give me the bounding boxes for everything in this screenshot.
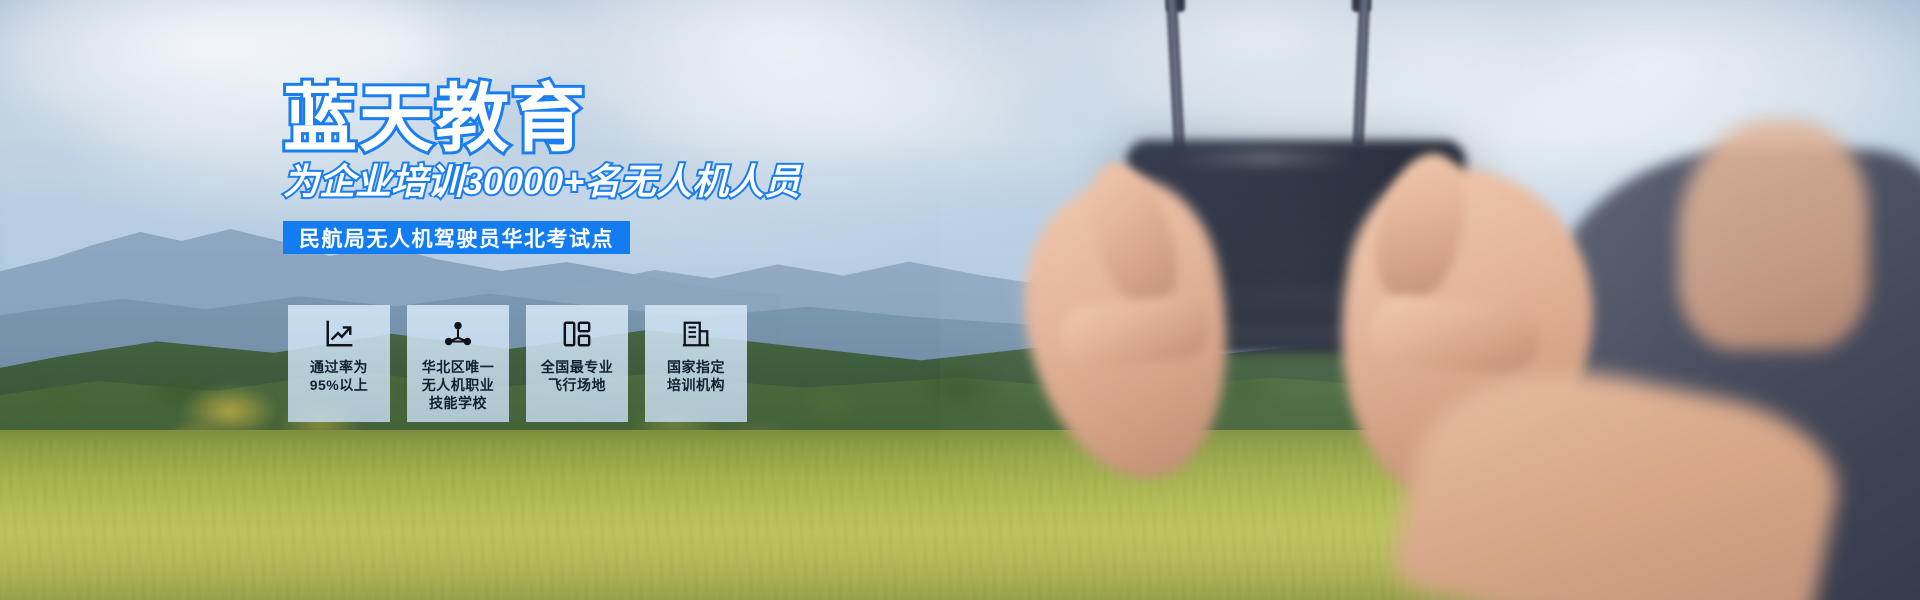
feature-card-label: 全国最专业 飞行场地	[541, 358, 614, 394]
feature-card-vocational-school[interactable]: 华北区唯一 无人机职业 技能学校	[407, 305, 509, 422]
hero-banner: 蓝天教育 为企业培训30000+名无人机人员 民航局无人机驾驶员华北考试点 通过…	[0, 0, 1920, 600]
building-office-icon	[681, 319, 711, 349]
feature-card-list: 通过率为 95%以上 华北区唯一 无人机职业 技能学校	[288, 305, 747, 422]
layout-panels-icon	[562, 319, 592, 349]
feature-card-label: 通过率为 95%以上	[310, 358, 369, 394]
banner-content: 蓝天教育 为企业培训30000+名无人机人员 民航局无人机驾驶员华北考试点 通过…	[0, 0, 1920, 600]
feature-card-state-approved[interactable]: 国家指定 培训机构	[645, 305, 747, 422]
banner-title: 蓝天教育	[283, 82, 587, 156]
feature-card-label: 国家指定 培训机构	[667, 358, 725, 394]
trend-up-chart-icon	[324, 319, 354, 349]
feature-card-label: 华北区唯一 无人机职业 技能学校	[422, 358, 495, 412]
banner-subtitle: 为企业培训30000+名无人机人员	[283, 164, 800, 200]
feature-card-flight-field[interactable]: 全国最专业 飞行场地	[526, 305, 628, 422]
molecule-network-icon	[443, 319, 473, 349]
feature-card-pass-rate[interactable]: 通过率为 95%以上	[288, 305, 390, 422]
certification-badge: 民航局无人机驾驶员华北考试点	[283, 221, 630, 254]
